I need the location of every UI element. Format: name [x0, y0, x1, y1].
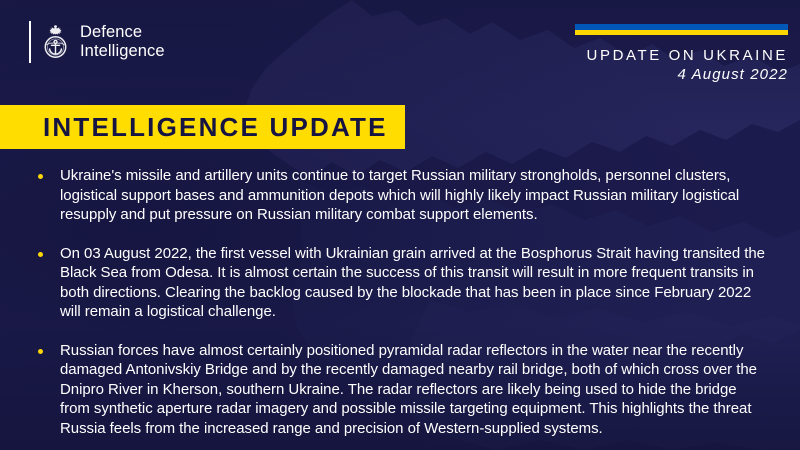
list-item: On 03 August 2022, the first vessel with…	[38, 244, 768, 322]
bullet-list: Ukraine's missile and artillery units co…	[38, 166, 768, 438]
bullet-text: On 03 August 2022, the first vessel with…	[60, 244, 768, 322]
update-title: UPDATE ON UKRAINE	[575, 46, 788, 65]
intelligence-update-banner: INTELLIGENCE UPDATE	[0, 105, 405, 149]
brand-line-defence: Defence	[80, 23, 165, 42]
brand-line-intelligence: Intelligence	[80, 42, 165, 61]
header: Defence Intelligence UPDATE ON UKRAINE 4…	[0, 0, 800, 100]
bullet-text: Ukraine's missile and artillery units co…	[60, 166, 768, 225]
bullet-dot-icon	[38, 349, 43, 354]
ukraine-flag-bar-icon	[575, 24, 788, 35]
update-date: 4 August 2022	[575, 65, 788, 85]
bullet-text: Russian forces have almost certainly pos…	[60, 341, 768, 439]
flag-stripe-yellow	[575, 30, 788, 36]
defence-intelligence-logo: Defence Intelligence	[29, 21, 165, 63]
list-item: Ukraine's missile and artillery units co…	[38, 166, 768, 225]
banner-title: INTELLIGENCE UPDATE	[0, 112, 388, 143]
bullet-dot-icon	[38, 252, 43, 257]
list-item: Russian forces have almost certainly pos…	[38, 341, 768, 439]
logo-divider-rule	[29, 21, 31, 63]
royal-crest-anchor-icon	[40, 24, 71, 60]
bullet-dot-icon	[38, 174, 43, 179]
intelligence-update-graphic: Defence Intelligence UPDATE ON UKRAINE 4…	[0, 0, 800, 450]
update-header-block: UPDATE ON UKRAINE 4 August 2022	[575, 24, 788, 85]
brand-wordmark: Defence Intelligence	[80, 23, 165, 61]
